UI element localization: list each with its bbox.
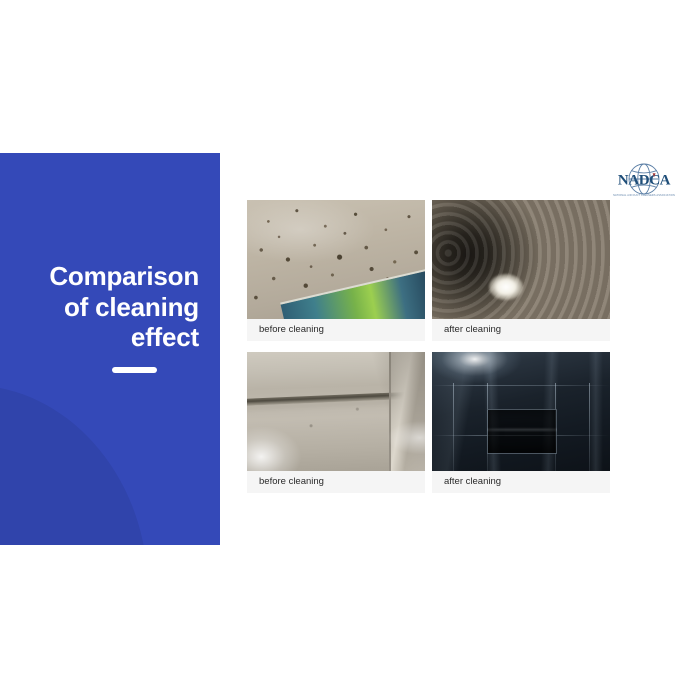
duct-rib-1 <box>453 383 454 471</box>
duct-rib-4 <box>589 383 590 471</box>
caption-after-1: after cleaning <box>432 319 610 341</box>
panel-decorative-curve <box>0 354 190 545</box>
comparison-grid: before cleaning after cleaning before cl… <box>247 200 610 497</box>
caption-before-2: before cleaning <box>247 471 425 493</box>
duct-rib-3 <box>555 383 556 471</box>
duct-seam-bottom <box>432 435 610 436</box>
comparison-card-before-1[interactable]: before cleaning <box>247 200 425 341</box>
duct-seam-top <box>432 385 610 386</box>
comparison-card-after-1[interactable]: after cleaning <box>432 200 610 341</box>
photo-round-duct-after <box>432 200 610 319</box>
photo-duct-debris-before <box>247 200 425 319</box>
comparison-card-before-2[interactable]: before cleaning <box>247 352 425 493</box>
nadca-logo: NADCA NATIONAL AIR DUCT CLEANERS ASSOCIA… <box>608 162 680 200</box>
comparison-row-2: before cleaning after cleaning <box>247 352 610 493</box>
photo-rect-duct-before <box>247 352 425 471</box>
photo-clean-duct-after <box>432 352 610 471</box>
title-panel: Comparison of cleaning effect <box>0 153 220 545</box>
title-block: Comparison of cleaning effect <box>19 261 199 373</box>
duct-rib-2 <box>487 383 488 471</box>
comparison-card-after-2[interactable]: after cleaning <box>432 352 610 493</box>
comparison-row-1: before cleaning after cleaning <box>247 200 610 341</box>
caption-before-1: before cleaning <box>247 319 425 341</box>
caption-after-2: after cleaning <box>432 471 610 493</box>
title-accent-bar <box>112 367 157 373</box>
page-title: Comparison of cleaning effect <box>19 261 199 353</box>
logo-tagline: NATIONAL AIR DUCT CLEANERS ASSOCIATION <box>613 194 675 197</box>
logo-wordmark: NADCA <box>618 172 671 188</box>
duct-corner-detail <box>389 352 425 471</box>
slide-canvas: Comparison of cleaning effect NADCA NATI… <box>0 0 700 700</box>
